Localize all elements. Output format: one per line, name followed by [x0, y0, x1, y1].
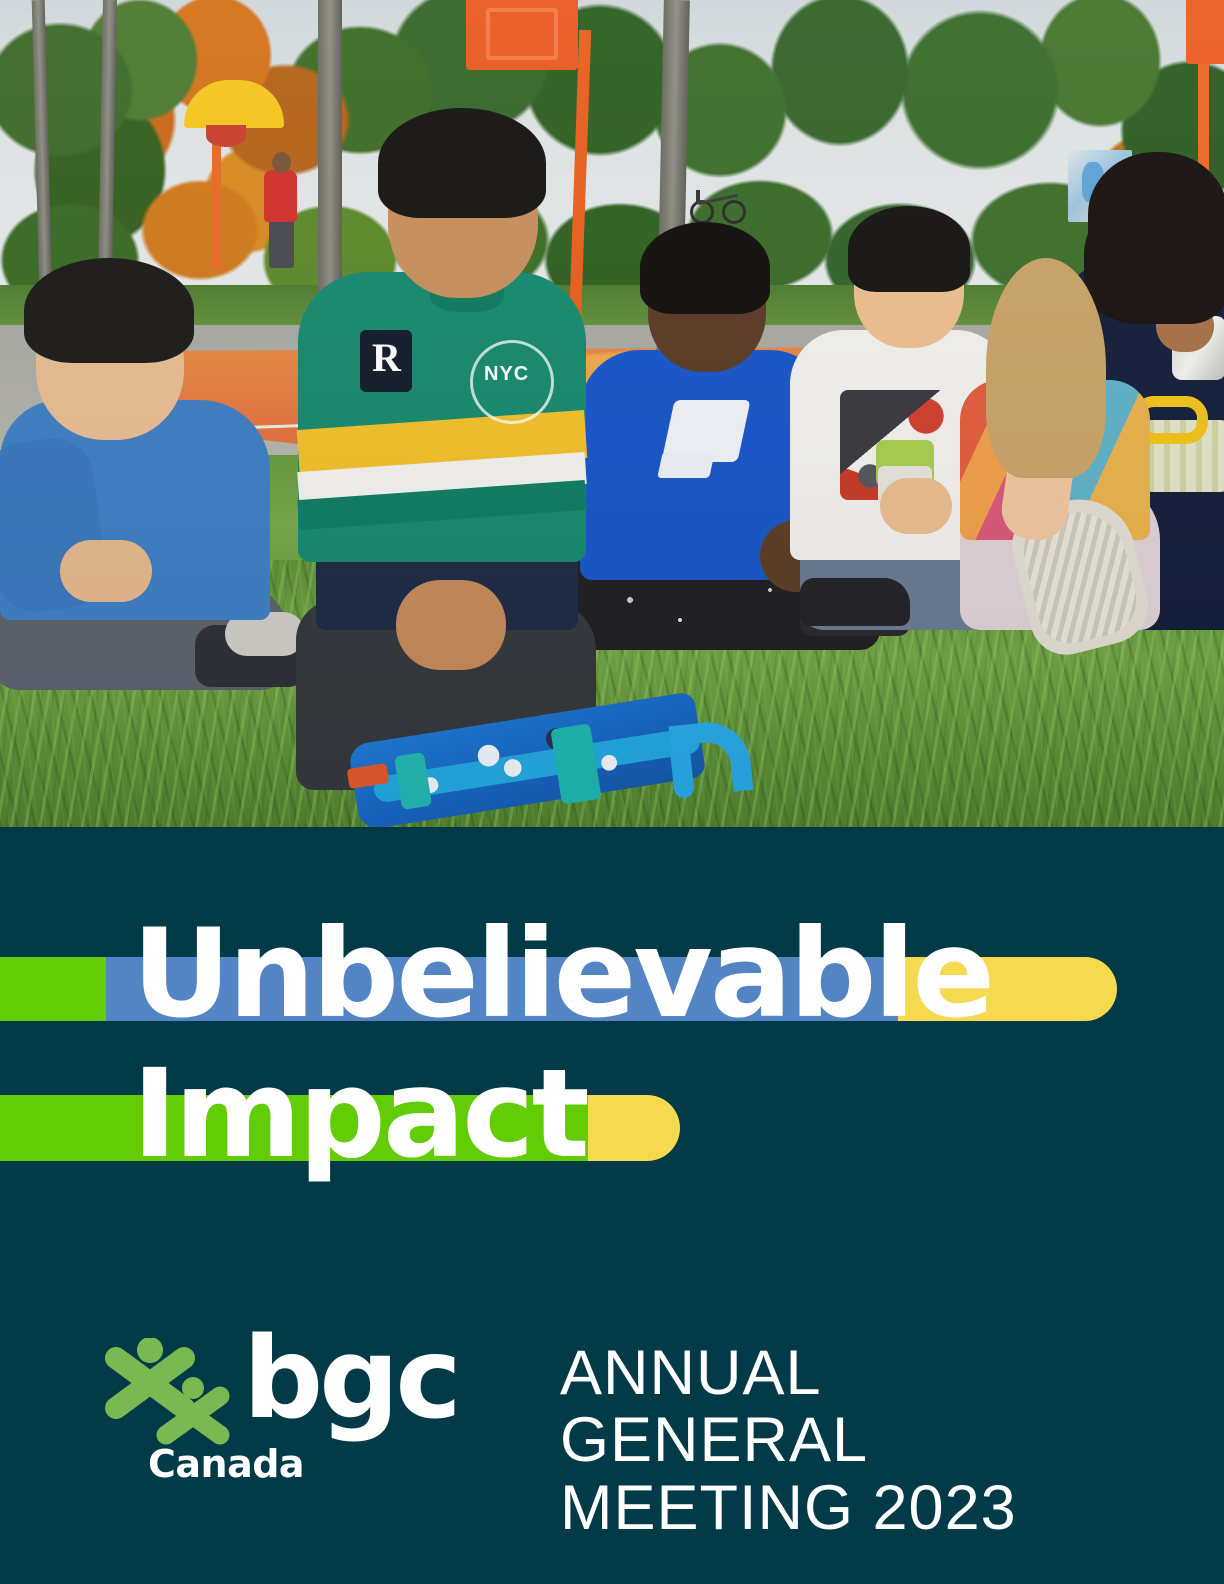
title-bar-yellow [588, 1095, 680, 1161]
title-line-1: Unbelievable [132, 913, 992, 1035]
background-child-legs [269, 218, 294, 268]
bgc-canada-logo: bgc Canada [103, 1338, 433, 1478]
child-6-hand [1156, 300, 1214, 352]
child-1-hair [24, 258, 194, 363]
background-child-red-shirt [264, 170, 297, 222]
child-2-hands [396, 580, 506, 670]
event-title: ANNUAL GENERAL MEETING 2023 [560, 1340, 1140, 1542]
event-title-line-1: ANNUAL GENERAL [560, 1338, 868, 1475]
child-2-patch-letter: R [372, 338, 401, 378]
bgc-wordmark-text: bgc [243, 1328, 458, 1431]
footer-block: bgc Canada ANNUAL GENERAL MEETING 2023 [0, 1330, 1224, 1530]
child-2-nyc-text: NYC [484, 364, 529, 384]
cover-photo: R NYC [0, 0, 1224, 827]
light-pole [318, 0, 342, 300]
basketball-backboard-right-icon [1186, 0, 1224, 64]
child-6-braided-hair [1088, 152, 1224, 282]
basketball-hoop-yellow-icon [206, 125, 246, 147]
bgc-people-x-mark-icon [103, 1338, 233, 1448]
logo-country-label: Canada [148, 1442, 304, 1486]
child-4-shoe [800, 578, 910, 626]
child-2-hair [378, 108, 546, 218]
event-title-line-2: MEETING 2023 [560, 1475, 1140, 1542]
cover-page: R NYC Unbelievable Impact [0, 0, 1224, 1584]
child-1-hands [60, 540, 152, 602]
child-4-hair [848, 206, 970, 292]
hoop-post-yellow [212, 140, 221, 270]
child-4-hand [880, 478, 952, 534]
bicycle-icon [690, 190, 748, 224]
backboard-inner-square [486, 8, 558, 60]
bgc-wordmark: bgc [243, 1328, 458, 1431]
background-child-head [272, 152, 291, 173]
child-3-hair [640, 222, 770, 314]
title-line-2: Impact [132, 1053, 587, 1175]
title-bar-green [0, 957, 106, 1021]
child-5-hair [986, 258, 1106, 478]
child-3-shirt-graphic-2 [657, 452, 715, 478]
